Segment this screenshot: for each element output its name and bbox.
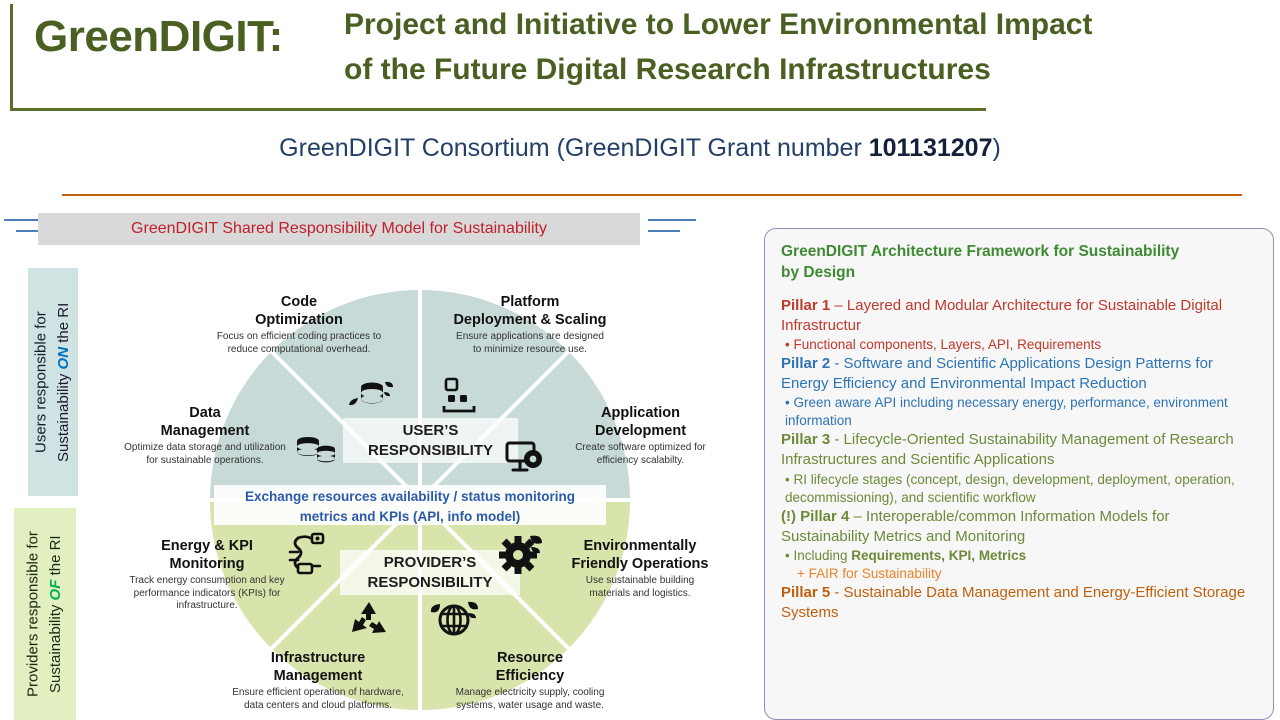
database-leaf-icon	[348, 378, 394, 414]
brand-title: GreenDIGIT:	[34, 12, 283, 62]
pillar-4-head: (!) Pillar 4 – Interoperable/common Info…	[781, 507, 1259, 547]
segment-description: Use sustainable building materials and l…	[540, 575, 740, 599]
pillar-3-title: Lifecycle-Oriented Sustainability Manage…	[781, 431, 1234, 468]
pillar-4-bullet-bold: Requirements, KPI, Metrics	[851, 548, 1026, 563]
segment-description: Ensure applications are designed to mini…	[410, 331, 650, 355]
globe-leaf-icon	[430, 598, 478, 640]
pillar-5-label: Pillar 5	[781, 584, 830, 601]
pillar-1-dash: –	[830, 297, 847, 314]
shared-responsibility-band: GreenDIGIT Shared Responsibility Model f…	[38, 213, 640, 245]
pillar-5-title: Sustainable Data Management and Energy-E…	[781, 584, 1245, 621]
users-label-accent: ON	[55, 347, 72, 370]
segment-energy-kpi-monitoring: Energy & KPI Monitoring Track energy con…	[96, 538, 318, 612]
framework-heading-line2: by Design	[781, 262, 1259, 283]
page-title-line2: of the Future Digital Research Infrastru…	[344, 47, 1244, 92]
segment-description: Track energy consumption and key perform…	[96, 575, 318, 612]
orange-divider-rule	[62, 194, 1242, 196]
consortium-line: GreenDIGIT Consortium (GreenDIGIT Grant …	[0, 134, 1280, 163]
center-label-provider: PROVIDER’S RESPONSIBILITY	[340, 550, 520, 595]
stacked-databases-icon	[295, 434, 337, 468]
pillar-1: Pillar 1 – Layered and Modular Architect…	[781, 296, 1259, 354]
architecture-framework-panel: GreenDIGIT Architecture Framework for Su…	[764, 228, 1274, 720]
pillar-4: (!) Pillar 4 – Interoperable/common Info…	[781, 507, 1259, 583]
segment-description: Manage electricity supply, cooling syste…	[420, 687, 640, 711]
pillar-3-dash: -	[830, 431, 843, 448]
page-title-line1: Project and Initiative to Lower Environm…	[344, 2, 1244, 47]
providers-label-text: Providers responsible for Sustainability…	[23, 508, 68, 720]
exchange-banner: Exchange resources availability / status…	[214, 485, 606, 525]
pillar-1-head: Pillar 1 – Layered and Modular Architect…	[781, 296, 1259, 336]
segment-description: Focus on efficient coding practices to r…	[184, 331, 414, 355]
recycle-icon	[348, 600, 390, 640]
shared-responsibility-title: GreenDIGIT Shared Responsibility Model f…	[131, 220, 547, 238]
pillar-2-head: Pillar 2 - Software and Scientific Appli…	[781, 354, 1259, 394]
exchange-line-1: Exchange resources availability / status…	[214, 487, 606, 507]
pillar-2-dash: -	[830, 355, 843, 372]
pillar-1-bullet-1: • Functional components, Layers, API, Re…	[781, 336, 1259, 354]
providers-responsibility-label: Providers responsible for Sustainability…	[14, 508, 76, 720]
segment-infrastructure-management: Infrastructure Management Ensure efficie…	[198, 650, 438, 712]
providers-label-accent: OF	[47, 579, 64, 600]
pillar-4-label: (!) Pillar 4	[781, 508, 849, 525]
pillar-2-bullet-1: • Green aware API including necessary en…	[781, 394, 1259, 430]
pillar-4-bullet-prefix: • Including	[785, 548, 851, 563]
exchange-line-2: metrics and KPIs (API, info model)	[214, 507, 606, 527]
consortium-suffix: )	[993, 134, 1001, 162]
pillar-5: Pillar 5 - Sustainable Data Management a…	[781, 583, 1259, 623]
page-title: Project and Initiative to Lower Environm…	[344, 2, 1244, 92]
pillar-4-dash: –	[849, 508, 866, 525]
pillar-3-label: Pillar 3	[781, 431, 830, 448]
segment-resource-efficiency: Resource Efficiency Manage electricity s…	[420, 650, 640, 712]
framework-heading-line1: GreenDIGIT Architecture Framework for Su…	[781, 241, 1259, 262]
decorative-line-right-lower	[648, 230, 680, 232]
segment-description: Optimize data storage and utilization fo…	[94, 442, 316, 466]
segment-environmentally-friendly-operations: Environmentally Friendly Operations Use …	[540, 538, 740, 600]
segment-data-management: Data Management Optimize data storage an…	[94, 405, 316, 467]
segment-code-optimization: Code Optimization Focus on efficient cod…	[184, 294, 414, 356]
pillar-5-head: Pillar 5 - Sustainable Data Management a…	[781, 583, 1259, 623]
header-bottom-rule	[10, 108, 986, 111]
users-label-text: Users responsible for Sustainability ON …	[31, 268, 76, 496]
pillar-1-title: Layered and Modular Architecture for Sus…	[781, 297, 1222, 334]
decorative-line-right-upper	[648, 219, 696, 221]
slide-header: GreenDIGIT: Project and Initiative to Lo…	[0, 0, 1280, 112]
pillar-1-label: Pillar 1	[781, 297, 830, 314]
segment-title: Environmentally Friendly Operations	[540, 538, 740, 573]
pillar-4-bullet-1: • Including Requirements, KPI, Metrics	[781, 547, 1259, 565]
platform-blocks-icon	[440, 375, 480, 415]
pillar-4-bullet-2: + FAIR for Sustainability	[781, 565, 1259, 583]
monitor-gear-icon	[504, 440, 544, 474]
segment-title: Resource Efficiency	[420, 650, 640, 685]
users-responsibility-label: Users responsible for Sustainability ON …	[28, 268, 78, 496]
pillar-2: Pillar 2 - Software and Scientific Appli…	[781, 354, 1259, 430]
segment-platform-deployment-scaling: Platform Deployment & Scaling Ensure app…	[410, 294, 650, 356]
pillar-3-head: Pillar 3 - Lifecycle-Oriented Sustainabi…	[781, 430, 1259, 470]
framework-heading: GreenDIGIT Architecture Framework for Su…	[781, 241, 1259, 284]
pillar-2-label: Pillar 2	[781, 355, 830, 372]
segment-application-development: Application Development Create software …	[538, 405, 743, 467]
segment-title: Data Management	[94, 405, 316, 440]
pillar-5-dash: -	[830, 584, 843, 601]
segment-title: Infrastructure Management	[198, 650, 438, 685]
segment-description: Ensure efficient operation of hardware, …	[198, 687, 438, 711]
segment-title: Energy & KPI Monitoring	[96, 538, 318, 573]
segment-title: Code Optimization	[184, 294, 414, 329]
header-left-rule	[10, 4, 13, 108]
power-plug-leaf-icon	[286, 532, 328, 576]
segment-title: Platform Deployment & Scaling	[410, 294, 650, 329]
grant-number: 101131207	[869, 134, 993, 162]
gear-leaf-icon	[498, 534, 544, 574]
segment-title: Application Development	[538, 405, 743, 440]
consortium-prefix: GreenDIGIT Consortium (GreenDIGIT Grant …	[279, 134, 869, 162]
pillar-3: Pillar 3 - Lifecycle-Oriented Sustainabi…	[781, 430, 1259, 506]
center-label-user: USER’S RESPONSIBILITY	[343, 418, 518, 463]
pillar-3-bullet-1: • RI lifecycle stages (concept, design, …	[781, 471, 1259, 507]
segment-description: Create software optimized for efficiency…	[538, 442, 743, 466]
pillar-2-title: Software and Scientific Applications Des…	[781, 355, 1213, 392]
